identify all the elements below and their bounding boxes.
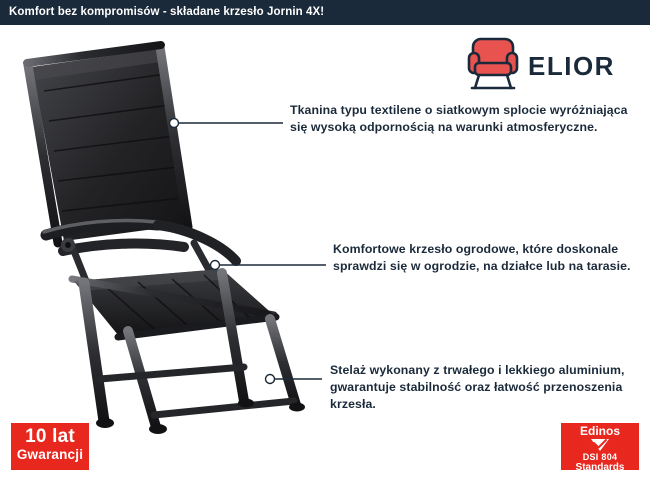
edinos-standards: Standards: [561, 462, 639, 470]
guarantee-badge: 10 lat Gwarancji: [11, 423, 89, 470]
feature-text-1: Komfortowe krzesło ogrodowe, które dosko…: [333, 241, 643, 275]
chair-illustration: [8, 29, 308, 439]
photo-area: ELIOR Tkanina typu textilene o siatkowym…: [0, 25, 650, 477]
product-photo: [8, 29, 308, 439]
feature-text-0: Tkanina typu textilene o siatkowym sploc…: [290, 102, 640, 136]
edinos-code: DSI 804: [561, 452, 639, 462]
guarantee-years: 10 lat: [11, 423, 89, 447]
armchair-icon: [462, 33, 524, 95]
brand-logo: ELIOR: [462, 33, 632, 99]
brand-name: ELIOR: [528, 51, 615, 82]
header-title-bar: Komfort bez kompromisów - składane krzes…: [0, 0, 650, 25]
product-infographic: Komfort bez kompromisów - składane krzes…: [0, 0, 650, 477]
guarantee-label: Gwarancji: [11, 447, 89, 462]
edinos-badge: Edinos DSI 804 Standards: [561, 423, 639, 470]
edinos-checkmark-icon: [561, 438, 639, 452]
feature-text-2: Stelaż wykonany z trwałego i lekkiego al…: [330, 362, 645, 413]
edinos-name: Edinos: [561, 423, 639, 438]
